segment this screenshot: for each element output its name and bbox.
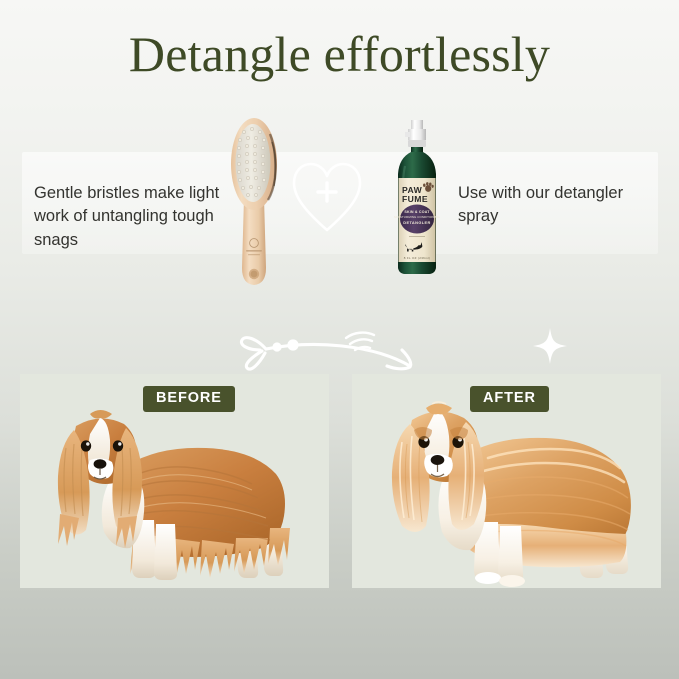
- marketing-infographic: Detangle effortlessly Gentle bristles ma…: [0, 0, 679, 679]
- spray-bottle-icon: PAW FUME SKIN & COAT MOISTURIZING CONDIT…: [389, 118, 445, 278]
- page-title: Detangle effortlessly: [0, 28, 679, 81]
- feature-left-text: Gentle bristles make light work of untan…: [34, 182, 249, 252]
- svg-text:FUME: FUME: [402, 194, 428, 204]
- svg-text:SKIN & COAT: SKIN & COAT: [404, 210, 430, 214]
- status-badge-before: BEFORE: [143, 386, 235, 412]
- svg-text:8 FL OZ (236ml): 8 FL OZ (236ml): [404, 256, 430, 260]
- status-badge-after: AFTER: [470, 386, 549, 412]
- sparkle-star-icon: [530, 325, 570, 367]
- svg-text:DETANGLER: DETANGLER: [403, 220, 431, 225]
- svg-text:MOISTURIZING CONDITIONING: MOISTURIZING CONDITIONING: [394, 215, 440, 219]
- heart-plus-icon: [288, 156, 366, 236]
- dog-after-image: [376, 386, 652, 588]
- feature-right-text: Use with our detangler spray: [458, 182, 653, 229]
- dog-before-image: [38, 388, 314, 588]
- dog-brush-icon: [222, 112, 286, 290]
